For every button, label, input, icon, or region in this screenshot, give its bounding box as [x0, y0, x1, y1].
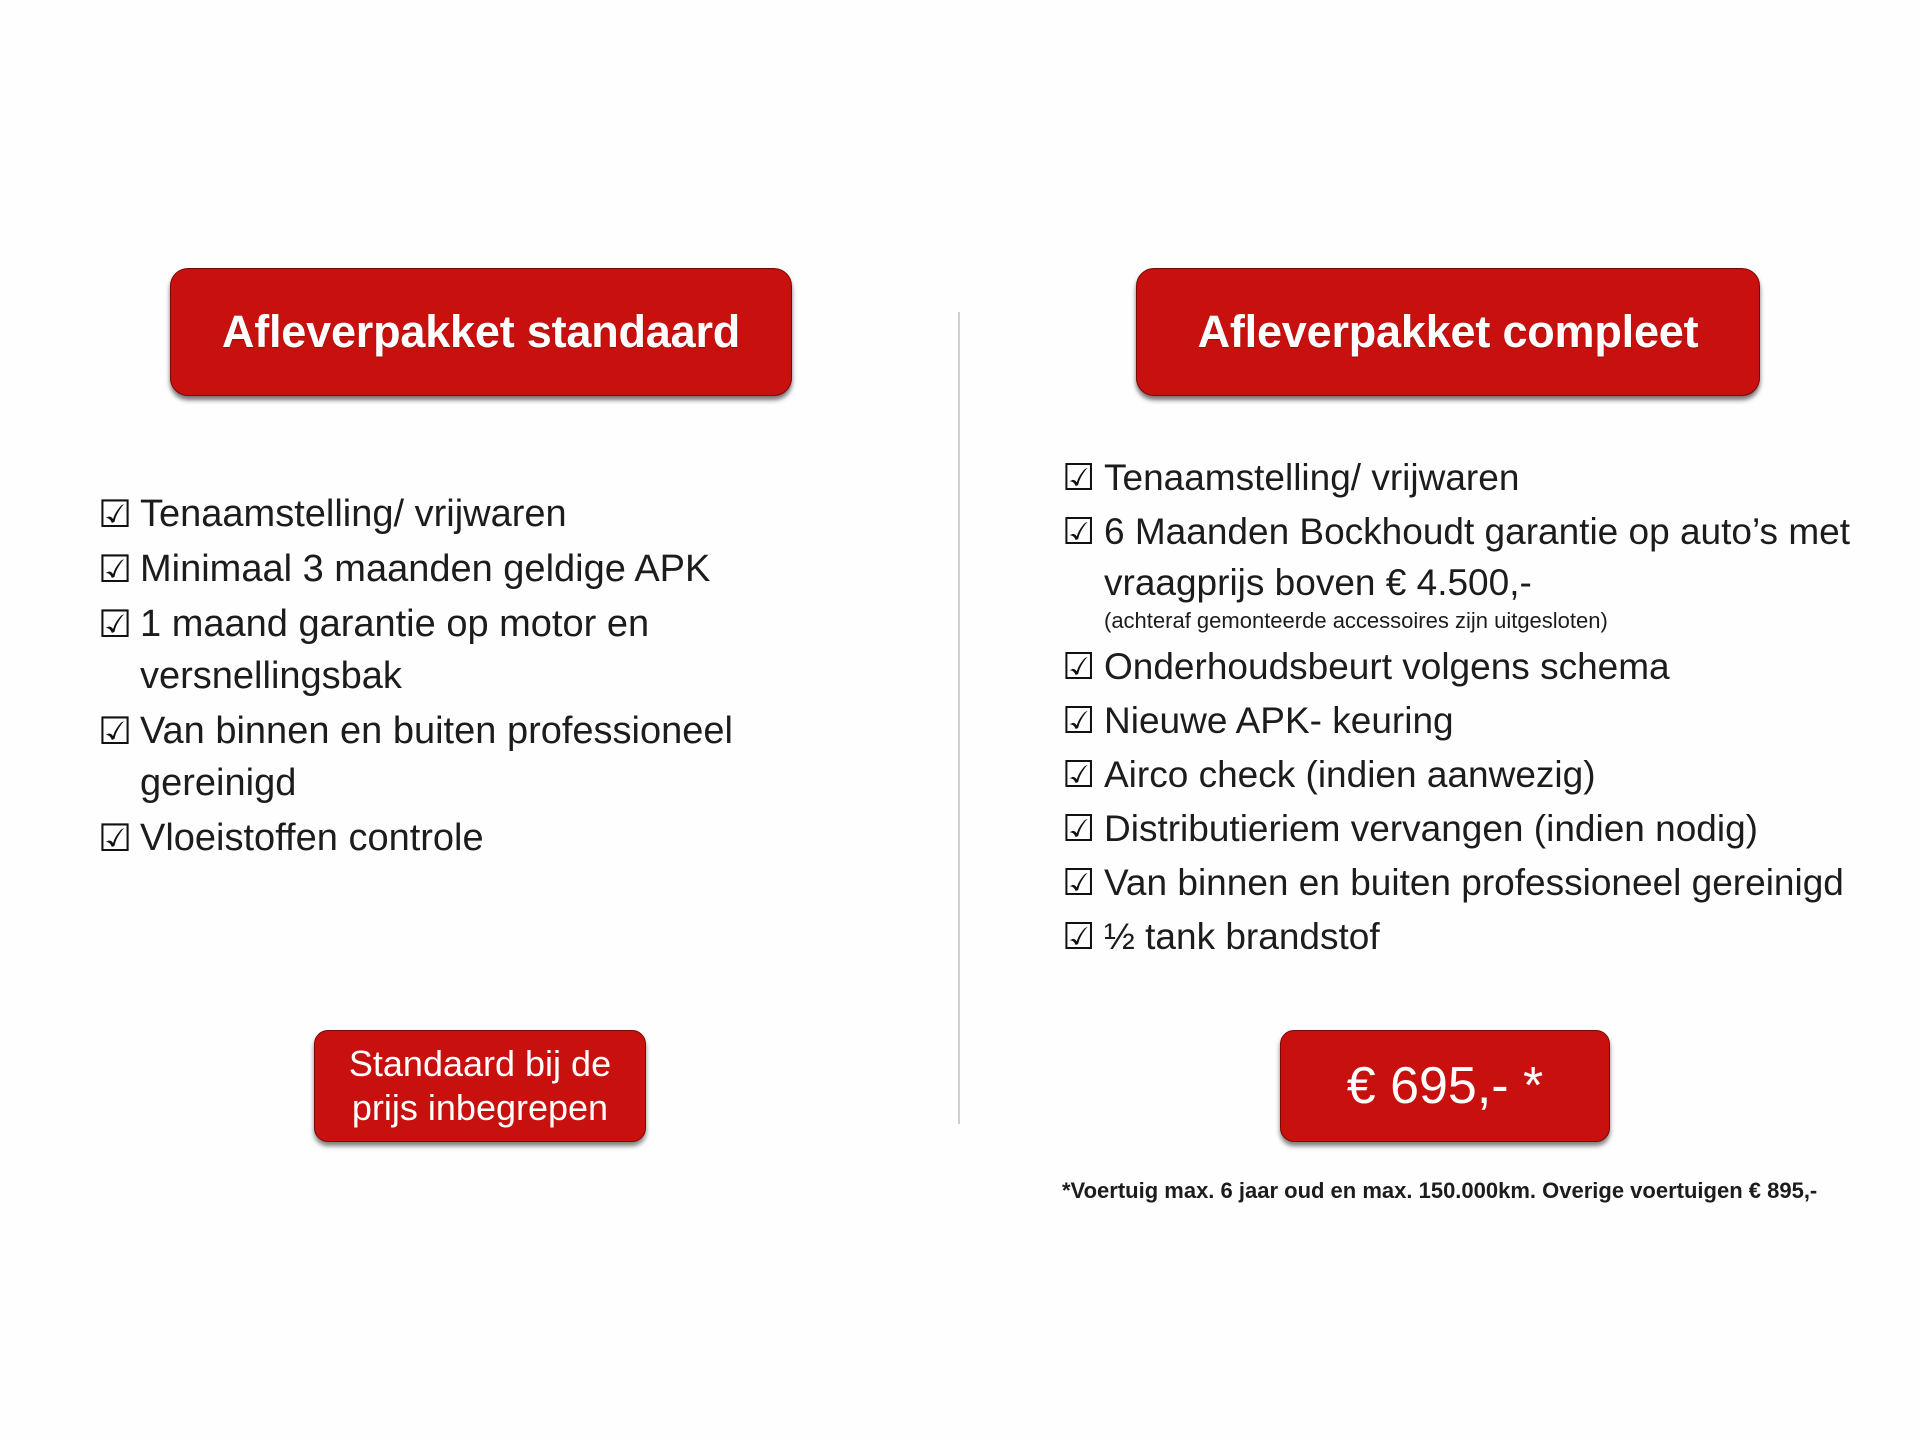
checkbox-checked-icon: ☑ [98, 705, 140, 757]
list-item-label: 6 Maanden Bockhoudt garantie op auto’s m… [1104, 506, 1882, 638]
checkbox-checked-icon: ☑ [1062, 803, 1104, 854]
checkbox-checked-icon: ☑ [1062, 695, 1104, 746]
checkbox-checked-icon: ☑ [1062, 749, 1104, 800]
header-banner-standaard: Afleverpakket standaard [170, 268, 792, 396]
price-badge-label-compleet: € 695,- * [1347, 1057, 1544, 1115]
list-item: ☑ ½ tank brandstof [1062, 911, 1882, 962]
checkbox-checked-icon: ☑ [98, 598, 140, 650]
column-divider [958, 312, 960, 1124]
list-item-label: Tenaamstelling/ vrijwaren [140, 488, 898, 540]
list-item-label: Nieuwe APK- keuring [1104, 695, 1882, 746]
list-item: ☑ Van binnen en buiten professioneel ger… [1062, 857, 1882, 908]
list-item: ☑ Minimaal 3 maanden geldige APK [98, 543, 898, 595]
header-title-standaard: Afleverpakket standaard [222, 306, 740, 358]
list-item-label: Airco check (indien aanwezig) [1104, 749, 1882, 800]
list-item-note: (achteraf gemonteerde accessoires zijn u… [1104, 606, 1882, 636]
list-item: ☑ Tenaamstelling/ vrijwaren [98, 488, 898, 540]
list-item: ☑ Airco check (indien aanwezig) [1062, 749, 1882, 800]
checkbox-checked-icon: ☑ [1062, 452, 1104, 503]
checkbox-checked-icon: ☑ [98, 488, 140, 540]
checkbox-checked-icon: ☑ [1062, 641, 1104, 692]
list-item: ☑ Van binnen en buiten professioneel ger… [98, 705, 898, 809]
checkbox-checked-icon: ☑ [98, 543, 140, 595]
header-title-compleet: Afleverpakket compleet [1198, 306, 1699, 358]
list-item-label: Onderhoudsbeurt volgens schema [1104, 641, 1882, 692]
footnote-compleet: *Voertuig max. 6 jaar oud en max. 150.00… [1062, 1178, 1902, 1204]
list-item-label: Van binnen en buiten professioneel gerei… [1104, 857, 1882, 908]
list-item: ☑ Nieuwe APK- keuring [1062, 695, 1882, 746]
checkbox-checked-icon: ☑ [98, 812, 140, 864]
slide-root: Afleverpakket standaard ☑ Tenaamstelling… [0, 0, 1920, 1440]
list-item-label: Vloeistoffen controle [140, 812, 898, 864]
list-item-label: Distributieriem vervangen (indien nodig) [1104, 803, 1882, 854]
list-item: ☑ 1 maand garantie op motor en versnelli… [98, 598, 898, 702]
list-item: ☑ 6 Maanden Bockhoudt garantie op auto’s… [1062, 506, 1882, 638]
list-item-label: 1 maand garantie op motor en versnelling… [140, 598, 898, 702]
list-item: ☑ Onderhoudsbeurt volgens schema [1062, 641, 1882, 692]
list-item: ☑ Distributieriem vervangen (indien nodi… [1062, 803, 1882, 854]
list-item: ☑ Vloeistoffen controle [98, 812, 898, 864]
list-item-label: Van binnen en buiten professioneel gerei… [140, 705, 898, 809]
list-item-label: Tenaamstelling/ vrijwaren [1104, 452, 1882, 503]
checkbox-checked-icon: ☑ [1062, 506, 1104, 557]
list-item-text: 6 Maanden Bockhoudt garantie op auto’s m… [1104, 511, 1850, 603]
list-item-label: ½ tank brandstof [1104, 911, 1882, 962]
checkbox-checked-icon: ☑ [1062, 911, 1104, 962]
list-item-label: Minimaal 3 maanden geldige APK [140, 543, 898, 595]
header-banner-compleet: Afleverpakket compleet [1136, 268, 1760, 396]
price-badge-compleet: € 695,- * [1280, 1030, 1610, 1142]
feature-list-compleet: ☑ Tenaamstelling/ vrijwaren ☑ 6 Maanden … [1062, 452, 1882, 965]
price-badge-label-standaard: Standaard bij de prijs inbegrepen [315, 1042, 645, 1130]
price-badge-standaard: Standaard bij de prijs inbegrepen [314, 1030, 646, 1142]
checkbox-checked-icon: ☑ [1062, 857, 1104, 908]
feature-list-standaard: ☑ Tenaamstelling/ vrijwaren ☑ Minimaal 3… [98, 488, 898, 867]
list-item: ☑ Tenaamstelling/ vrijwaren [1062, 452, 1882, 503]
